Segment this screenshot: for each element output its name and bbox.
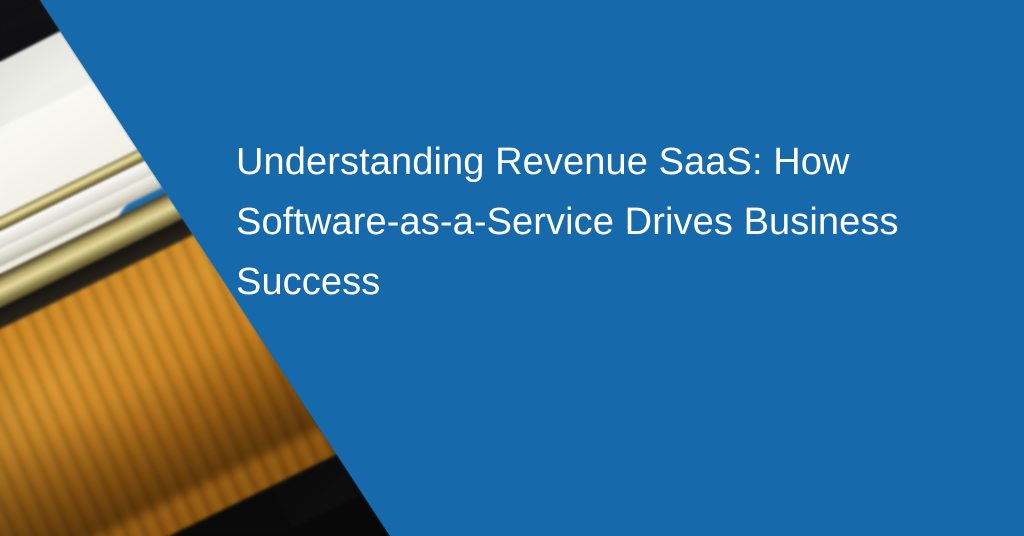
page-title: Understanding Revenue SaaS: How Software… bbox=[236, 132, 966, 312]
article-hero-banner: SALE Understanding Revenue SaaS: How Sof… bbox=[0, 0, 1024, 536]
